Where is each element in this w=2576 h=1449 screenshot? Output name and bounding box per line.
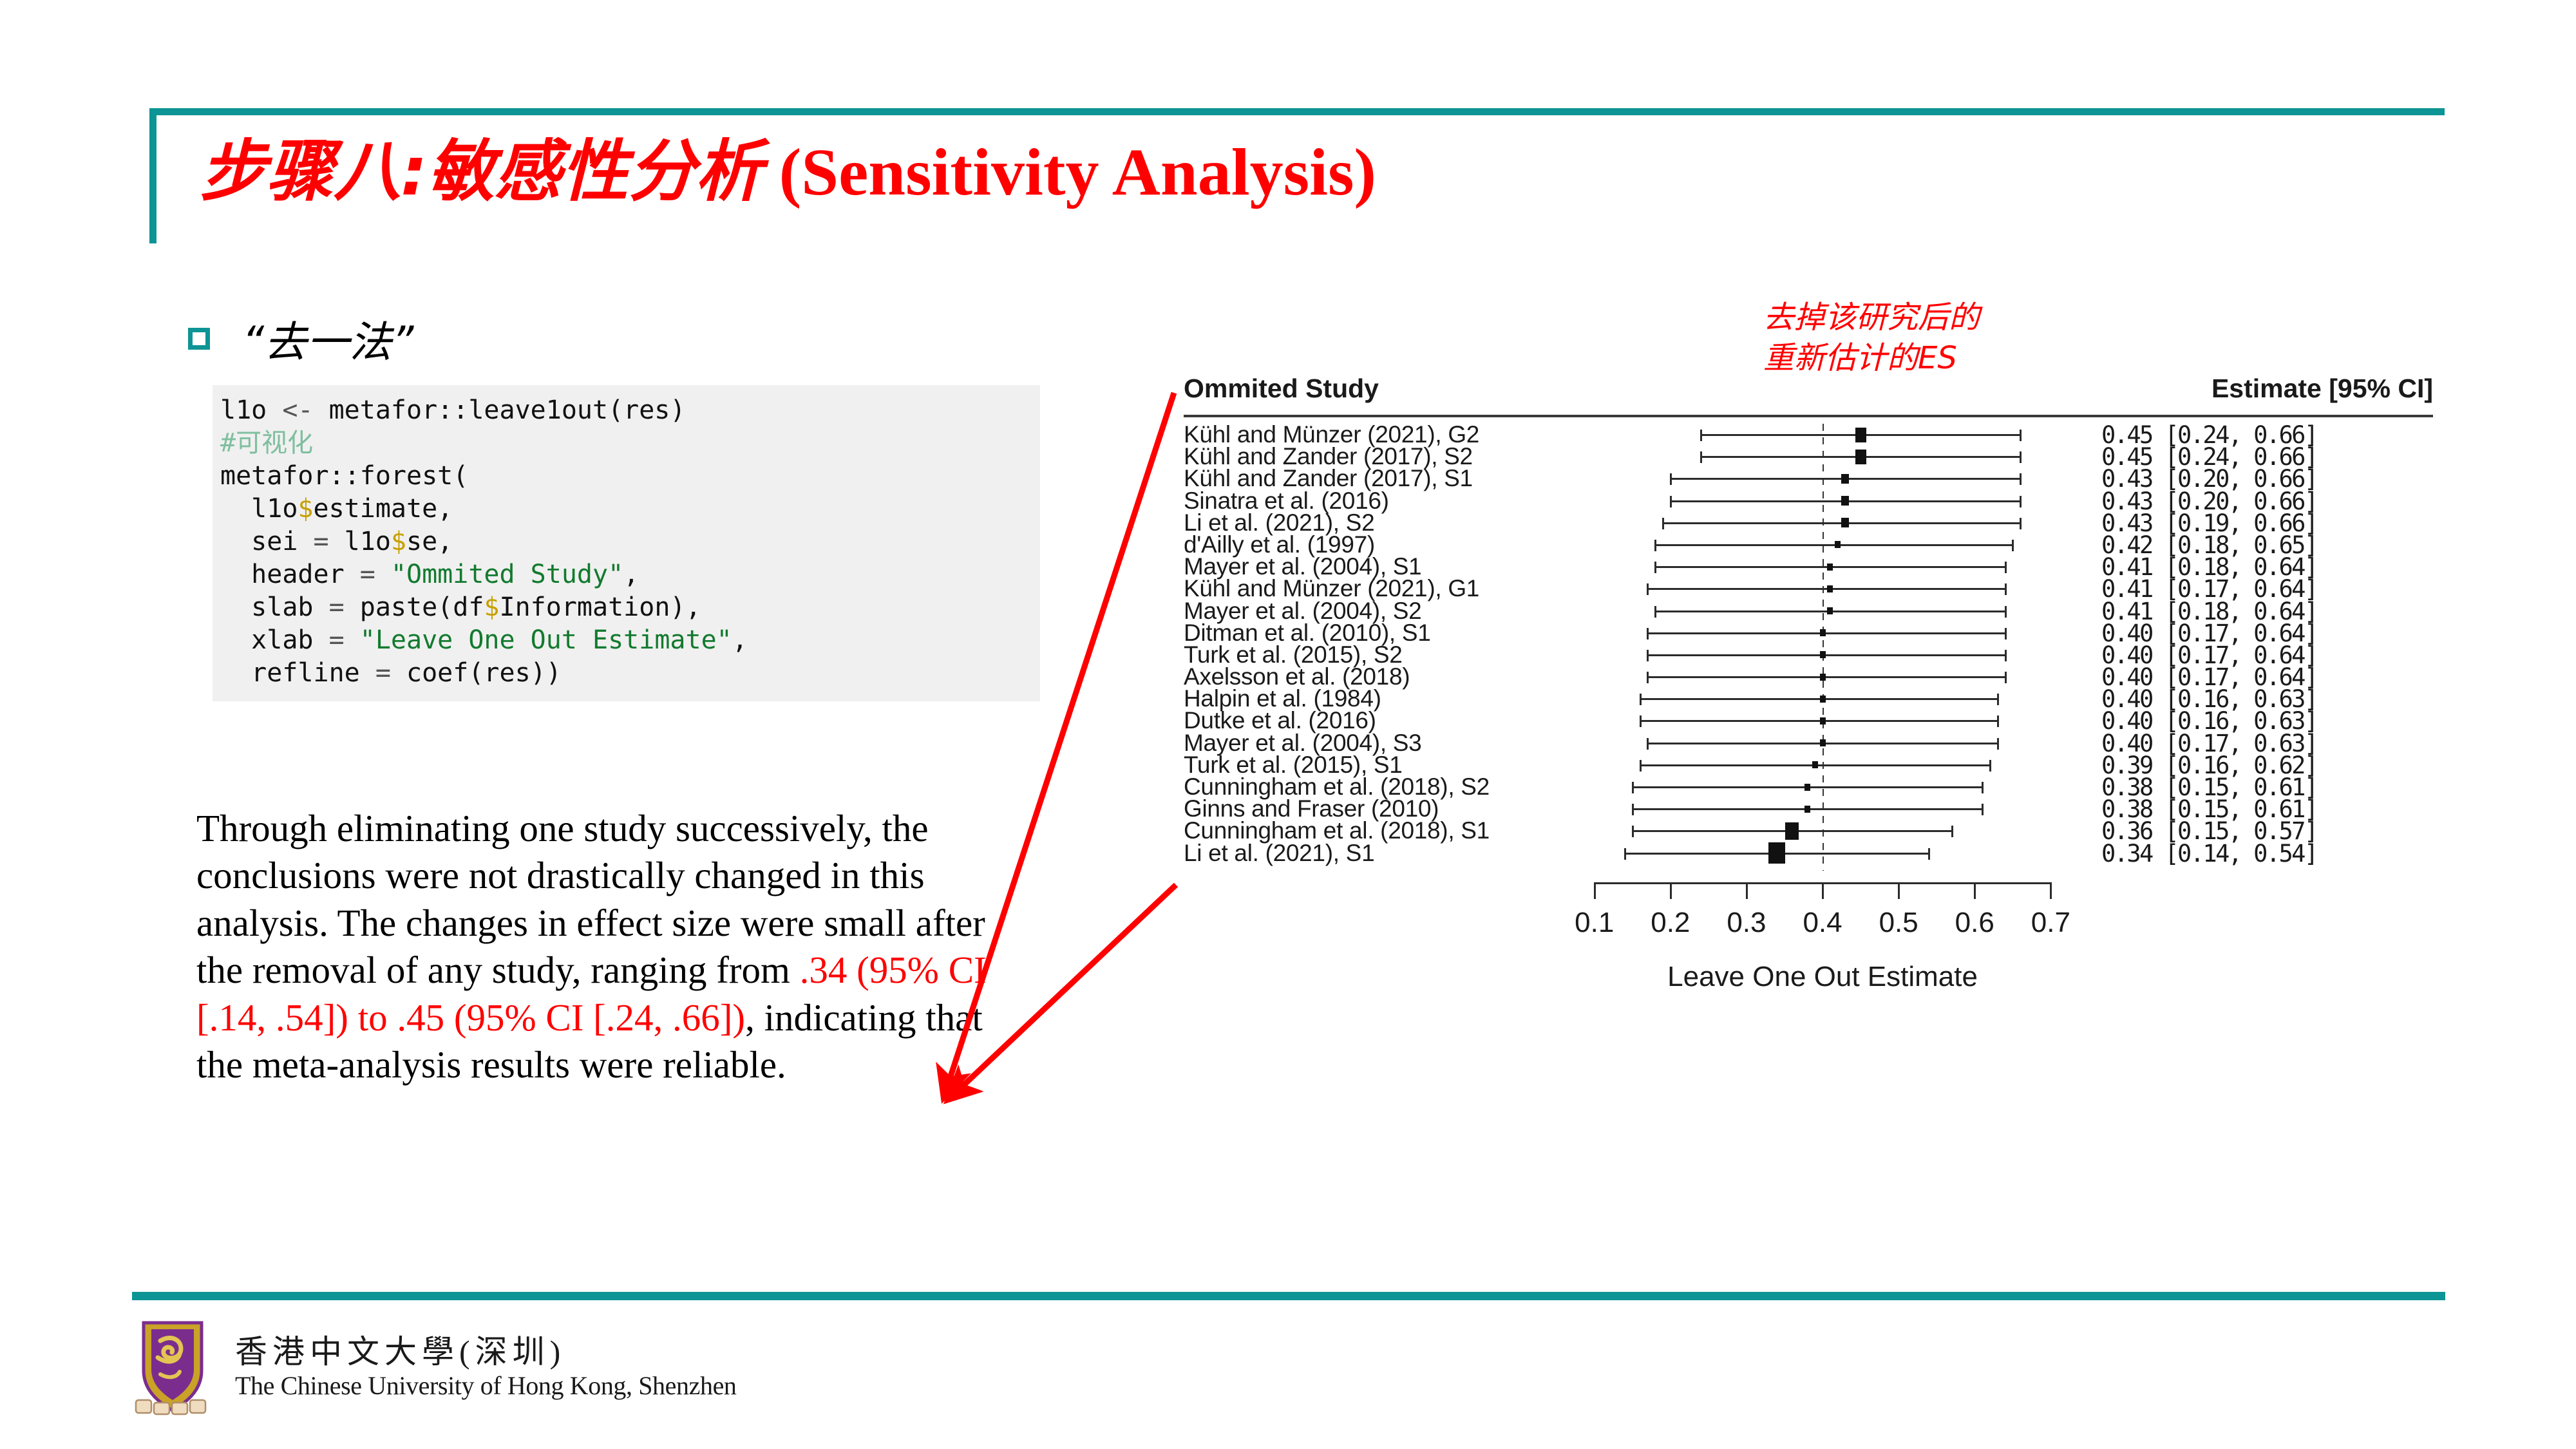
forest-row: Turk et al. (2015), S10.39 [0.16, 0.62] <box>1184 754 2433 776</box>
point-estimate-marker <box>1820 651 1826 658</box>
forest-row-interval <box>1583 600 2066 622</box>
ci-cap-lower <box>1670 473 1672 485</box>
ci-cap-lower <box>1654 562 1656 573</box>
forest-row-interval <box>1583 490 2066 512</box>
forest-row-interval <box>1583 710 2066 732</box>
ci-cap-lower <box>1647 628 1649 639</box>
point-estimate-marker <box>1804 784 1810 791</box>
ci-cap-lower <box>1640 694 1642 705</box>
bullet-item: “去一法” <box>188 308 413 370</box>
forest-row-interval <box>1583 556 2066 578</box>
forest-row: Kühl and Zander (2017), S10.43 [0.20, 0.… <box>1184 468 2433 489</box>
ci-cap-upper <box>2005 583 2007 595</box>
ci-cap-upper <box>1989 760 1991 772</box>
point-estimate-marker <box>1785 822 1799 840</box>
forest-row-interval <box>1583 732 2066 754</box>
forest-row-estimate: 0.34 [0.14, 0.54] <box>2101 840 2317 867</box>
forest-row: Li et al. (2021), S10.34 [0.14, 0.54] <box>1184 842 2433 864</box>
point-estimate-marker <box>1804 806 1810 813</box>
point-estimate-marker <box>1827 607 1833 614</box>
ci-cap-upper <box>2005 650 2007 661</box>
forest-row-interval <box>1583 688 2066 710</box>
axis-tick-label: 0.3 <box>1727 907 1766 939</box>
forest-row: Kühl and Münzer (2021), G20.45 [0.24, 0.… <box>1184 424 2433 446</box>
axis-tick <box>1974 882 1976 899</box>
code-line-3: metafor::forest( <box>220 461 468 491</box>
title-top-rule <box>149 108 2445 115</box>
ci-cap-lower <box>1632 804 1634 815</box>
point-estimate-marker <box>1827 563 1833 571</box>
point-estimate-marker <box>1812 761 1818 768</box>
ci-cap-upper <box>2020 518 2022 529</box>
forest-row-interval <box>1583 578 2066 600</box>
footer-rule <box>132 1292 2445 1300</box>
ci-cap-lower <box>1654 606 1656 618</box>
forest-row: Kühl and Münzer (2021), G10.41 [0.17, 0.… <box>1184 578 2433 600</box>
title-left-rule <box>149 108 156 243</box>
point-estimate-marker <box>1820 696 1826 703</box>
confidence-interval-line <box>1655 544 2012 546</box>
code-line-1: l1o <- metafor::leave1out(res) <box>220 395 685 425</box>
forest-row-interval <box>1583 534 2066 556</box>
confidence-interval-line <box>1647 676 2005 678</box>
forest-header-right: Estimate [95% CI] <box>2211 374 2433 404</box>
forest-row-interval <box>1583 468 2066 489</box>
point-estimate-marker <box>1820 717 1826 724</box>
forest-row: Cunningham et al. (2018), S20.38 [0.15, … <box>1184 776 2433 798</box>
cuhk-shield-logo-icon <box>132 1319 213 1416</box>
forest-row-interval <box>1583 842 2066 864</box>
square-bullet-icon <box>188 328 210 350</box>
ci-cap-lower <box>1640 760 1642 772</box>
forest-row-interval <box>1583 512 2066 534</box>
x-axis-label: Leave One Out Estimate <box>1667 961 1978 993</box>
forest-row: Ginns and Fraser (2010)0.38 [0.15, 0.61] <box>1184 798 2433 820</box>
ci-cap-lower <box>1662 518 1664 529</box>
ci-cap-lower <box>1632 782 1634 793</box>
ci-cap-upper <box>1982 782 1984 793</box>
ci-cap-upper <box>2005 628 2007 639</box>
ci-cap-lower <box>1700 430 1702 441</box>
forest-row-interval <box>1583 754 2066 776</box>
confidence-interval-line <box>1640 720 1998 722</box>
page-title-en: (Sensitivity Analysis) <box>762 135 1376 209</box>
forest-row-interval <box>1583 666 2066 688</box>
forest-row: Sinatra et al. (2016)0.43 [0.20, 0.66] <box>1184 490 2433 512</box>
axis-tick <box>1594 882 1596 899</box>
forest-row-interval <box>1583 820 2066 842</box>
ci-cap-upper <box>2020 430 2022 441</box>
footer-text: 香港中文大學(深圳) The Chinese University of Hon… <box>235 1334 737 1401</box>
ci-cap-upper <box>2020 451 2022 463</box>
ci-cap-lower <box>1654 540 1656 551</box>
point-estimate-marker <box>1820 674 1826 681</box>
footer-name-en: The Chinese University of Hong Kong, She… <box>235 1371 737 1401</box>
axis-tick <box>1746 882 1748 899</box>
confidence-interval-line <box>1640 698 1998 700</box>
ci-cap-upper <box>2012 540 2014 551</box>
ci-cap-upper <box>1997 715 1999 727</box>
forest-row-interval <box>1583 622 2066 644</box>
code-line-8: xlab = "Leave One Out Estimate", <box>220 625 748 655</box>
axis-tick <box>1898 882 1900 899</box>
page-title: 步骤八:敏感性分析 (Sensitivity Analysis) <box>200 132 1376 213</box>
point-estimate-marker <box>1855 450 1866 464</box>
code-line-4: l1o$estimate, <box>220 494 453 524</box>
confidence-interval-line <box>1647 654 2005 656</box>
point-estimate-marker <box>1841 496 1849 506</box>
ci-cap-upper <box>2020 473 2022 485</box>
ci-cap-upper <box>2005 606 2007 618</box>
forest-row: Mayer et al. (2004), S30.40 [0.17, 0.63] <box>1184 732 2433 754</box>
code-line-7: slab = paste(df$Information), <box>220 592 701 622</box>
ci-cap-lower <box>1670 496 1672 507</box>
ci-cap-upper <box>1997 738 1999 750</box>
axis-tick-label: 0.6 <box>1955 907 1994 939</box>
ci-cap-upper <box>2005 672 2007 683</box>
confidence-interval-line <box>1647 588 2005 590</box>
code-line-2-comment: #可视化 <box>220 428 313 458</box>
ci-cap-lower <box>1647 650 1649 661</box>
point-estimate-marker <box>1841 518 1849 527</box>
ci-cap-upper <box>2020 496 2022 507</box>
forest-row: Axelsson et al. (2018)0.40 [0.17, 0.64] <box>1184 666 2433 688</box>
slide-canvas: 步骤八:敏感性分析 (Sensitivity Analysis) “去一法” l… <box>0 0 2576 1449</box>
forest-row: Ditman et al. (2010), S10.40 [0.17, 0.64… <box>1184 622 2433 644</box>
ci-cap-upper <box>2005 562 2007 573</box>
forest-row-list: Kühl and Münzer (2021), G20.45 [0.24, 0.… <box>1184 424 2433 864</box>
forest-row: Halpin et al. (1984)0.40 [0.16, 0.63] <box>1184 688 2433 710</box>
point-estimate-marker <box>1841 474 1849 484</box>
axis-tick-label: 0.1 <box>1575 907 1614 939</box>
ci-cap-lower <box>1632 826 1634 837</box>
axis-tick <box>1670 882 1672 899</box>
code-line-5: sei = l1o$se, <box>220 527 453 556</box>
page-title-cn: 步骤八:敏感性分析 <box>200 132 762 211</box>
forest-row: Kühl and Zander (2017), S20.45 [0.24, 0.… <box>1184 446 2433 468</box>
forest-row: Cunningham et al. (2018), S10.36 [0.15, … <box>1184 820 2433 842</box>
ci-cap-lower <box>1647 738 1649 750</box>
forest-row-interval <box>1583 446 2066 468</box>
forest-row: Mayer et al. (2004), S10.41 [0.18, 0.64] <box>1184 556 2433 578</box>
point-estimate-marker <box>1827 585 1833 592</box>
point-estimate-marker <box>1835 541 1841 548</box>
forest-row: Mayer et al. (2004), S20.41 [0.18, 0.64] <box>1184 600 2433 622</box>
body-paragraph: Through eliminating one study successive… <box>196 805 992 1089</box>
forest-row: Turk et al. (2015), S20.40 [0.17, 0.64] <box>1184 644 2433 666</box>
forest-row: Li et al. (2021), S20.43 [0.19, 0.66] <box>1184 512 2433 534</box>
ci-cap-upper <box>1982 804 1984 815</box>
ci-cap-lower <box>1647 583 1649 595</box>
ci-cap-lower <box>1640 715 1642 727</box>
forest-row-interval <box>1583 798 2066 820</box>
point-estimate-marker <box>1768 842 1785 864</box>
ci-cap-lower <box>1700 451 1702 463</box>
confidence-interval-line <box>1647 632 2005 634</box>
ci-cap-upper <box>1997 694 1999 705</box>
code-line-6: header = "Ommited Study", <box>220 560 639 589</box>
forest-plot: Ommited Study Estimate [95% CI] Kühl and… <box>1184 374 2433 1082</box>
footer: 香港中文大學(深圳) The Chinese University of Hon… <box>132 1319 737 1416</box>
axis-tick-label: 0.7 <box>2031 907 2070 939</box>
ci-cap-lower <box>1647 672 1649 683</box>
ci-cap-lower <box>1624 848 1626 860</box>
forest-row: d'Ailly et al. (1997)0.42 [0.18, 0.65] <box>1184 534 2433 556</box>
axis-tick <box>1822 882 1824 899</box>
callout-annotation: 去掉该研究后的 重新估计的ES <box>1763 298 1980 379</box>
footer-name-cn: 香港中文大學(深圳) <box>235 1334 737 1371</box>
forest-row-label: Li et al. (2021), S1 <box>1184 840 1374 867</box>
axis-tick <box>2050 882 2052 899</box>
forest-row: Dutke et al. (2016)0.40 [0.16, 0.63] <box>1184 710 2433 732</box>
code-block: l1o <- metafor::leave1out(res) #可视化 meta… <box>213 385 1040 701</box>
code-line-9: refline = coef(res)) <box>220 658 562 688</box>
forest-header-left: Ommited Study <box>1184 374 1379 404</box>
bullet-item-label: “去一法” <box>242 308 413 370</box>
axis-tick-label: 0.5 <box>1879 907 1918 939</box>
point-estimate-marker <box>1820 739 1826 746</box>
ci-cap-upper <box>1951 826 1953 837</box>
forest-row-interval <box>1583 776 2066 798</box>
ci-cap-upper <box>1928 848 1930 860</box>
forest-header-rule <box>1184 415 2433 417</box>
axis-tick-label: 0.4 <box>1803 907 1842 939</box>
point-estimate-marker <box>1855 428 1866 442</box>
forest-row-interval <box>1583 644 2066 666</box>
point-estimate-marker <box>1820 629 1826 636</box>
axis-tick-label: 0.2 <box>1651 907 1690 939</box>
forest-row-interval <box>1583 424 2066 446</box>
